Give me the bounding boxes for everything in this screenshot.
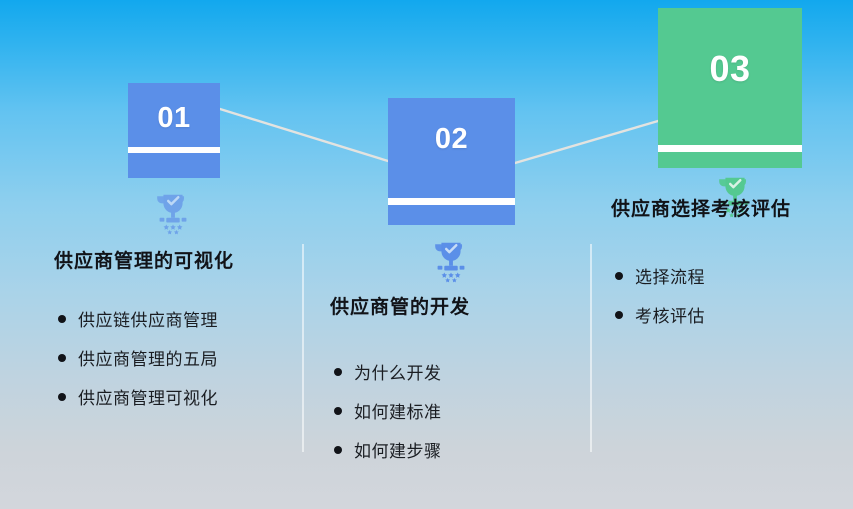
trophy-check-icon xyxy=(150,189,196,235)
step-number-03: 03 xyxy=(658,48,802,90)
list-item: 如何建标准 xyxy=(334,398,470,423)
column-bullet-list-3: 选择流程 考核评估 xyxy=(615,263,791,327)
content-column-1: 供应商管理的可视化 供应链供应商管理 供应商管理的五局 供应商管理可视化 xyxy=(54,246,234,423)
bullet-dot-icon xyxy=(615,272,623,280)
list-item: 考核评估 xyxy=(615,302,791,327)
step-number-02: 02 xyxy=(388,123,515,156)
list-item: 供应链供应商管理 xyxy=(58,306,234,331)
column-title-1: 供应商管理的可视化 xyxy=(54,246,234,273)
list-item-label: 选择流程 xyxy=(635,263,705,288)
content-column-3: 供应商选择考核评估 选择流程 考核评估 xyxy=(611,194,791,341)
step-number-01: 01 xyxy=(128,102,220,135)
bullet-dot-icon xyxy=(58,315,66,323)
bullet-dot-icon xyxy=(334,446,342,454)
column-divider xyxy=(590,244,592,452)
content-column-2: 供应商管的开发 为什么开发 如何建标准 如何建步骤 xyxy=(330,292,470,476)
list-item: 供应商管理的五局 xyxy=(58,345,234,370)
step-card-02[interactable]: 02 xyxy=(388,98,515,225)
bullet-dot-icon xyxy=(334,407,342,415)
step-card-01[interactable]: 01 xyxy=(128,83,220,178)
list-item-label: 为什么开发 xyxy=(354,359,442,384)
connector-card02-card03 xyxy=(515,121,658,163)
column-title-2: 供应商管的开发 xyxy=(330,292,470,319)
bullet-dot-icon xyxy=(58,393,66,401)
list-item-label: 供应链供应商管理 xyxy=(78,306,218,331)
column-divider xyxy=(302,244,304,452)
trophy-check-icon xyxy=(428,237,474,283)
column-bullet-list-2: 为什么开发 如何建标准 如何建步骤 xyxy=(334,359,470,462)
column-title-3: 供应商选择考核评估 xyxy=(611,194,791,221)
column-bullet-list-1: 供应链供应商管理 供应商管理的五局 供应商管理可视化 xyxy=(58,306,234,409)
step-card-divider-02 xyxy=(388,198,515,205)
list-item-label: 如何建标准 xyxy=(354,398,442,423)
step-card-03[interactable]: 03 xyxy=(658,8,802,168)
bullet-dot-icon xyxy=(615,311,623,319)
list-item-label: 供应商管理的五局 xyxy=(78,345,218,370)
bullet-dot-icon xyxy=(334,368,342,376)
step-card-divider-01 xyxy=(128,147,220,153)
list-item: 为什么开发 xyxy=(334,359,470,384)
list-item-label: 考核评估 xyxy=(635,302,705,327)
step-card-divider-03 xyxy=(658,145,802,152)
infographic-canvas: 01 02 03 xyxy=(0,0,853,509)
list-item: 如何建步骤 xyxy=(334,437,470,462)
connector-card01-card02 xyxy=(220,109,388,161)
list-item-label: 如何建步骤 xyxy=(354,437,442,462)
list-item: 选择流程 xyxy=(615,263,791,288)
list-item: 供应商管理可视化 xyxy=(58,384,234,409)
bullet-dot-icon xyxy=(58,354,66,362)
list-item-label: 供应商管理可视化 xyxy=(78,384,218,409)
